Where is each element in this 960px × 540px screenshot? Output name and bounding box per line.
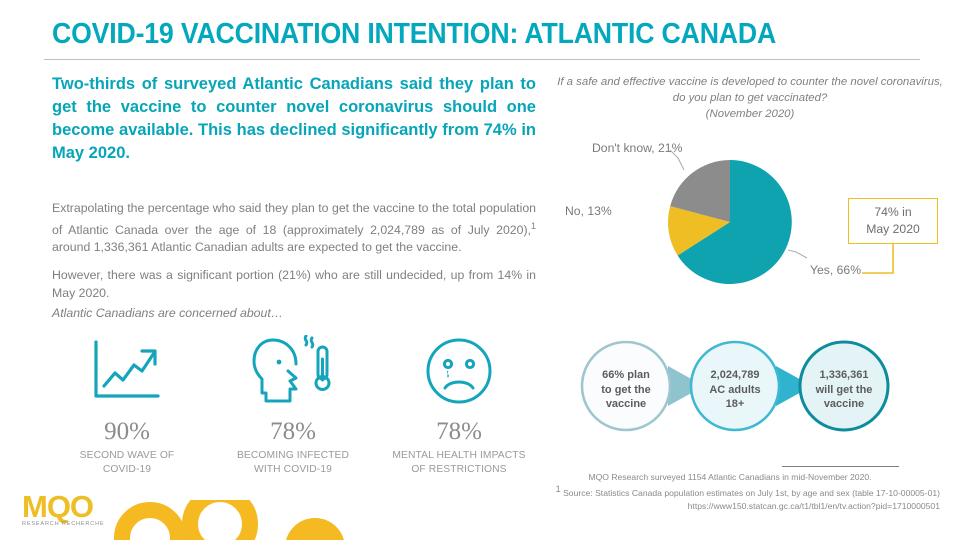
body-paragraph-1-part-a: Extrapolating the percentage who said th… <box>52 201 536 237</box>
logo-subtitle: RESEARCH RECHERCHE <box>22 521 122 527</box>
chain-step-2-text: 2,024,789 AC adults 18+ <box>693 368 777 412</box>
mqo-logo: MQO RESEARCH RECHERCHE <box>22 492 122 527</box>
concern-label-line1: SECOND WAVE OF <box>80 450 175 461</box>
concern-label-line1: MENTAL HEALTH IMPACTS <box>392 450 525 461</box>
lead-paragraph: Two-thirds of surveyed Atlantic Canadian… <box>52 73 536 165</box>
footer-line-1: MQO Research surveyed 1154 Atlantic Cana… <box>520 471 940 483</box>
chain-step-3-line1: 1,336,361 <box>820 369 869 381</box>
concern-item-infection: 78% BECOMING INFECTED WITH COVID-19 <box>210 332 376 477</box>
chain-step-3-line3: vaccine <box>824 398 864 410</box>
chain-step-1-line1: 66% plan <box>602 369 650 381</box>
concern-label: SECOND WAVE OF COVID-19 <box>80 449 175 477</box>
may-2020-callout: 74% in May 2020 <box>848 198 938 244</box>
chain-step-1-line2: to get the <box>601 384 651 396</box>
concern-label: BECOMING INFECTED WITH COVID-19 <box>237 449 349 477</box>
chain-step-2-line2: AC adults <box>709 384 760 396</box>
footnote-marker-1: 1 <box>531 221 536 231</box>
footer-source-note: MQO Research surveyed 1154 Atlantic Cana… <box>520 471 940 512</box>
callout-connector <box>840 240 950 286</box>
decorative-rings <box>110 500 430 540</box>
concerns-row: 90% SECOND WAVE OF COVID-19 <box>44 332 544 477</box>
chain-step-2-line3: 18+ <box>726 398 745 410</box>
page-title: COVID-19 VACCINATION INTENTION: ATLANTIC… <box>52 18 776 51</box>
callout-line2: May 2020 <box>866 221 920 238</box>
rising-chart-icon <box>88 332 166 410</box>
sad-face-icon <box>423 332 495 410</box>
chart-title-text: If a safe and effective vaccine is devel… <box>557 76 943 104</box>
concern-item-mental-health: 78% MENTAL HEALTH IMPACTS OF RESTRICTION… <box>376 332 542 477</box>
footer-line-3: https://www150.statcan.gc.ca/t1/tbl1/en/… <box>520 500 940 512</box>
chain-step-3-line2: will get the <box>816 384 873 396</box>
concern-label-line2: WITH COVID-19 <box>254 464 332 475</box>
concern-label-line1: BECOMING INFECTED <box>237 450 349 461</box>
pie-label-dont-know: Don't know, 21% <box>592 141 682 155</box>
body-paragraph-1: Extrapolating the percentage who said th… <box>52 200 536 257</box>
logo-wordmark: MQO <box>22 492 122 522</box>
body-paragraph-2: However, there was a significant portion… <box>52 267 536 302</box>
leader-line-yes <box>788 250 807 258</box>
concern-percent: 90% <box>104 418 150 446</box>
fever-head-thermometer-icon <box>252 332 334 410</box>
concern-label-line2: OF RESTRICTIONS <box>411 464 506 475</box>
title-divider <box>44 59 920 60</box>
pie-label-no: No, 13% <box>565 204 612 218</box>
concern-item-second-wave: 90% SECOND WAVE OF COVID-19 <box>44 332 210 477</box>
footer-divider <box>782 466 899 467</box>
footer-line-2: 1 Source: Statistics Canada population e… <box>520 483 940 499</box>
chain-step-1-line3: vaccine <box>606 398 646 410</box>
chain-step-1-text: 66% plan to get the vaccine <box>584 368 668 412</box>
infographic-slide: COVID-19 VACCINATION INTENTION: ATLANTIC… <box>0 0 960 540</box>
calculation-chain: 66% plan to get the vaccine 2,024,789 AC… <box>580 334 900 438</box>
chain-step-3-text: 1,336,361 will get the vaccine <box>802 368 886 412</box>
concern-percent: 78% <box>436 418 482 446</box>
concern-label: MENTAL HEALTH IMPACTS OF RESTRICTIONS <box>392 449 525 477</box>
chart-title: If a safe and effective vaccine is devel… <box>552 74 948 122</box>
callout-line1: 74% in <box>874 204 911 221</box>
concern-percent: 78% <box>270 418 316 446</box>
footer-line-2-text: Source: Statistics Canada population est… <box>561 488 940 498</box>
concerns-intro-note: Atlantic Canadians are concerned about… <box>52 305 536 322</box>
concern-label-line2: COVID-19 <box>103 464 151 475</box>
chain-step-2-line1: 2,024,789 <box>711 369 760 381</box>
body-paragraph-1-part-b: around 1,336,361 Atlantic Canadian adult… <box>52 240 462 254</box>
chart-subtitle-text: (November 2020) <box>706 108 795 120</box>
